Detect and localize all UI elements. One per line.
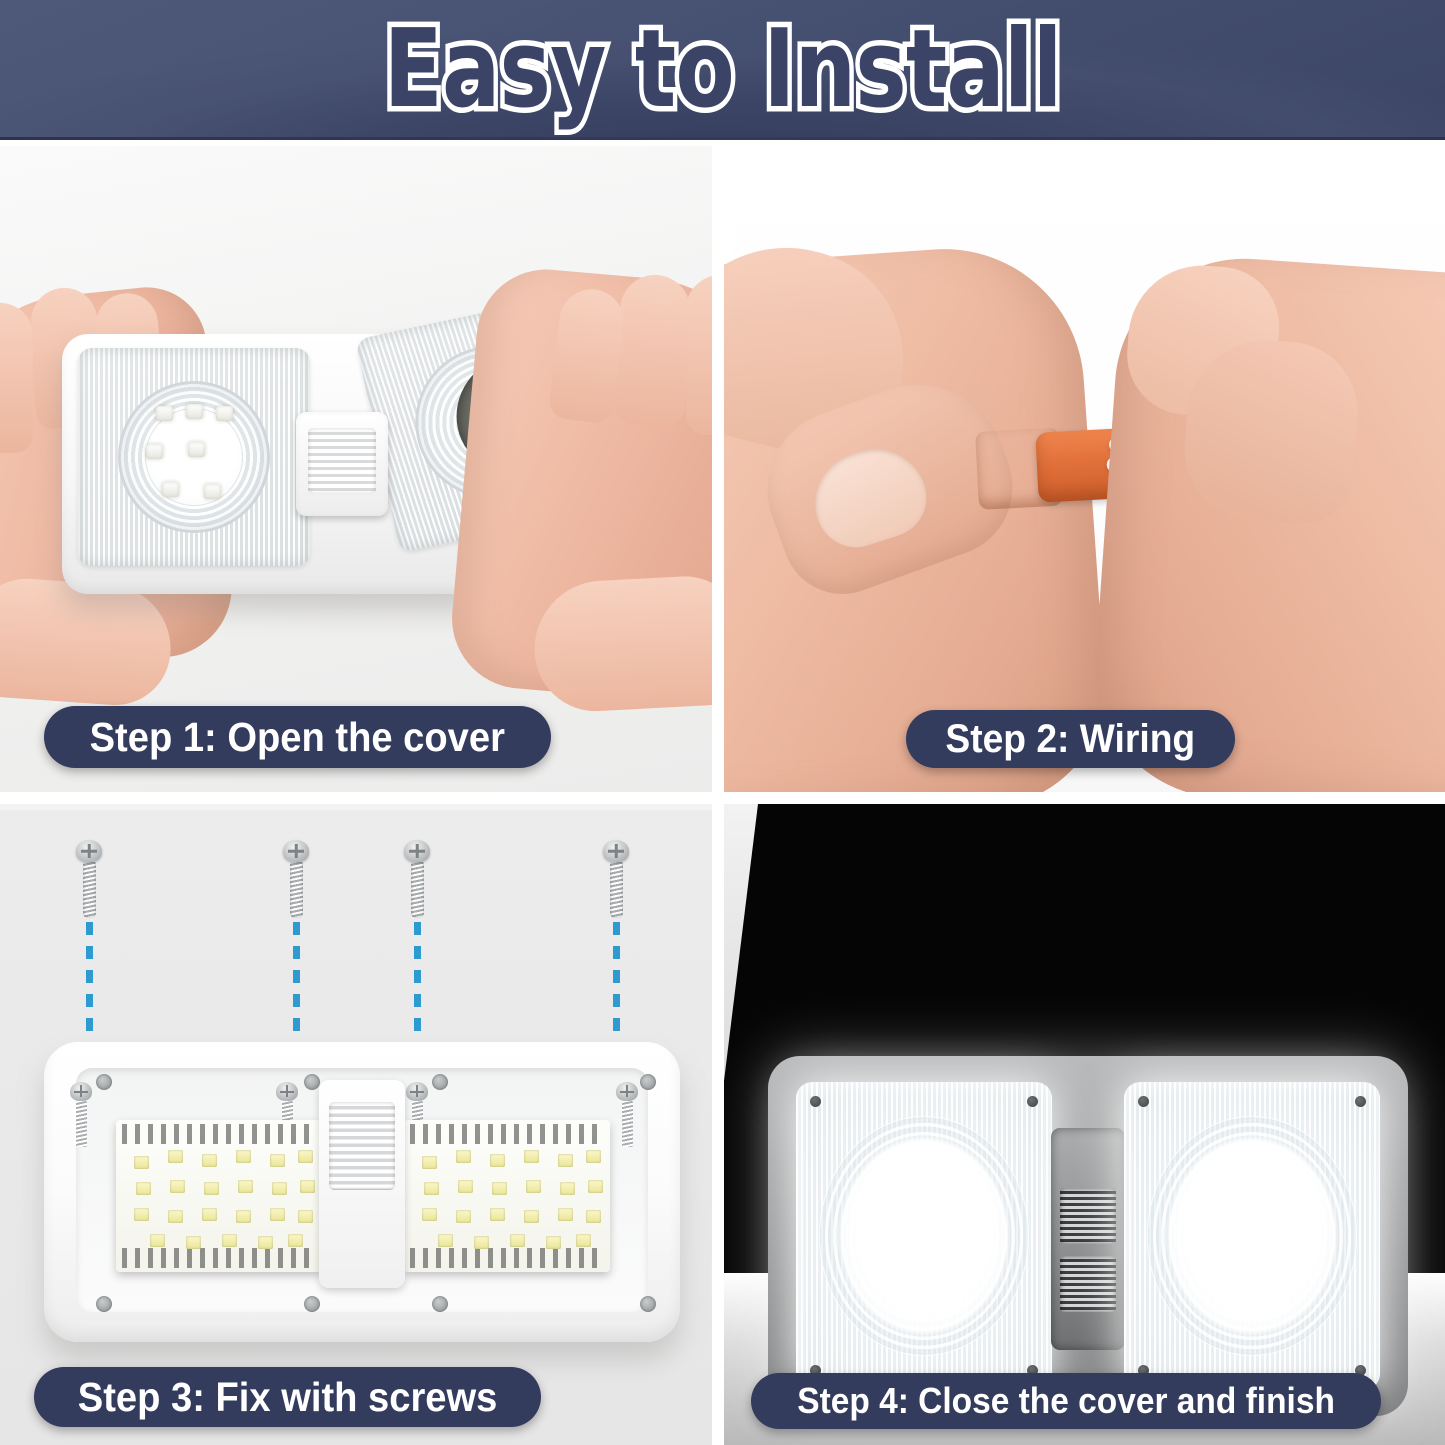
screw-icon (616, 1082, 638, 1147)
step-2-panel: Step 2: Wiring (724, 146, 1445, 792)
led-chip (298, 1210, 313, 1223)
led-chip (134, 1208, 149, 1221)
thumb (0, 575, 175, 709)
screw-icon (283, 840, 309, 918)
led-chip (186, 1236, 201, 1249)
screw-head (603, 840, 629, 862)
led-chip (146, 444, 163, 459)
step-1-label: Step 1: Open the cover (44, 706, 551, 768)
led-chip (270, 1208, 285, 1221)
mount-hole (432, 1074, 448, 1090)
led-chip (188, 442, 205, 457)
led-chip (526, 1180, 541, 1193)
pcb-component-row (410, 1124, 604, 1144)
led-chip (170, 1180, 185, 1193)
pcb-component-row (410, 1248, 604, 1268)
backdrop-edge (724, 804, 758, 1134)
led-chip (456, 1150, 471, 1163)
led-chip (524, 1210, 539, 1223)
led-chip (236, 1210, 251, 1223)
led-chip (204, 1182, 219, 1195)
led-chip (524, 1150, 539, 1163)
finger (0, 303, 33, 453)
screw-icon (603, 840, 629, 918)
step-4-label: Step 4: Close the cover and finish (751, 1373, 1381, 1429)
led-chip (202, 1208, 217, 1221)
header-bottom-rule (0, 137, 1445, 140)
led-chip (588, 1180, 603, 1193)
thumb (531, 573, 712, 714)
led-chip (546, 1236, 561, 1249)
screw-shaft (83, 862, 96, 918)
lens-corner-screw (1027, 1096, 1038, 1107)
led-chip (558, 1208, 573, 1221)
step-2-label-text: Step 2: Wiring (945, 717, 1195, 762)
fixture-base-open (44, 1042, 680, 1342)
center-switch[interactable] (1051, 1128, 1125, 1350)
mount-hole (96, 1074, 112, 1090)
lens-corner-screw (810, 1096, 821, 1107)
led-chip (272, 1182, 287, 1195)
led-chip (422, 1208, 437, 1221)
led-chip (424, 1182, 439, 1195)
lens-corner-screw (1138, 1096, 1149, 1107)
led-chip (156, 406, 173, 421)
lens-hotspot (840, 1138, 1008, 1334)
page-title: Easy to Install (384, 16, 1062, 124)
led-board-right (404, 1120, 610, 1272)
step-1-label-text: Step 1: Open the cover (90, 714, 505, 761)
led-chip (456, 1210, 471, 1223)
screw-shaft (622, 1101, 633, 1147)
lens-left-lit (796, 1082, 1052, 1390)
led-chip (288, 1234, 303, 1247)
screw-head (616, 1082, 638, 1101)
step-3-label: Step 3: Fix with screws (34, 1367, 541, 1427)
steps-grid: Step 1: Open the cover Step 2: (0, 146, 1445, 1445)
step-3-label-text: Step 3: Fix with screws (78, 1374, 498, 1421)
led-board-left (116, 1120, 322, 1272)
pcb-component-row (122, 1124, 316, 1144)
led-chip (458, 1180, 473, 1193)
led-chip (168, 1150, 183, 1163)
screw-icon (404, 840, 430, 918)
screw-icon (70, 1082, 92, 1147)
screw-shaft (76, 1101, 87, 1147)
led-chip (560, 1182, 575, 1195)
led-chip (222, 1234, 237, 1247)
led-chip (474, 1236, 489, 1249)
screw-head (283, 840, 309, 862)
step-3-panel: Step 3: Fix with screws (0, 804, 712, 1445)
led-chip (150, 1234, 165, 1247)
screw-icon (76, 840, 102, 918)
led-chip (270, 1154, 285, 1167)
led-chip (168, 1210, 183, 1223)
screw-shaft (290, 862, 303, 918)
switch-rocker[interactable] (308, 428, 376, 494)
led-chip (186, 404, 203, 419)
infographic-page: Easy to Install (0, 0, 1445, 1445)
led-chip (422, 1156, 437, 1169)
led-chip (162, 482, 179, 497)
center-switch[interactable] (319, 1080, 405, 1288)
led-chip (258, 1236, 273, 1249)
right-hand (446, 264, 712, 709)
switch-rocker-bottom[interactable] (1060, 1256, 1116, 1312)
led-chip (204, 484, 221, 499)
finger (614, 273, 692, 426)
center-switch[interactable] (296, 412, 388, 516)
led-chip (236, 1150, 251, 1163)
led-chip (298, 1150, 313, 1163)
screw-head (276, 1082, 298, 1101)
mount-hole (432, 1296, 448, 1312)
led-chip (576, 1234, 591, 1247)
screw-head (70, 1082, 92, 1101)
led-chip (586, 1150, 601, 1163)
led-chip (510, 1234, 525, 1247)
led-chip (238, 1180, 253, 1193)
step-2-label: Step 2: Wiring (906, 710, 1235, 768)
lens-right-lit (1124, 1082, 1380, 1390)
screw-head (404, 840, 430, 862)
header-title-wrap: Easy to Install (0, 0, 1445, 140)
lens-corner-screw (1355, 1096, 1366, 1107)
step-1-panel: Step 1: Open the cover (0, 146, 712, 792)
header-title-inner: Easy to Install (384, 16, 1062, 124)
screw-shaft (411, 862, 424, 918)
mount-hole (96, 1296, 112, 1312)
mount-hole (640, 1074, 656, 1090)
led-chip (202, 1154, 217, 1167)
step-4-label-text: Step 4: Close the cover and finish (797, 1380, 1335, 1422)
lens-hotspot (1168, 1138, 1336, 1334)
led-chip (216, 406, 233, 421)
switch-rocker-top[interactable] (1060, 1188, 1116, 1244)
finger (686, 275, 712, 435)
led-chip (586, 1210, 601, 1223)
led-chip (134, 1156, 149, 1169)
panel-top-edge (0, 804, 712, 810)
led-chip (492, 1182, 507, 1195)
screw-head (76, 840, 102, 862)
screw-head (406, 1082, 428, 1101)
step-4-panel: Step 4: Close the cover and finish (724, 804, 1445, 1445)
mount-hole (304, 1074, 320, 1090)
led-chip (558, 1154, 573, 1167)
light-fixture-installed (768, 1056, 1408, 1416)
pcb-component-row (122, 1248, 316, 1268)
led-chip (300, 1180, 315, 1193)
mount-hole (304, 1296, 320, 1312)
led-chip (490, 1208, 505, 1221)
lens-left (78, 348, 310, 566)
screw-shaft (610, 862, 623, 918)
led-chip (136, 1182, 151, 1195)
switch-rocker[interactable] (329, 1102, 395, 1190)
header-banner: Easy to Install (0, 0, 1445, 140)
led-chip (438, 1234, 453, 1247)
led-chip (490, 1154, 505, 1167)
mount-hole (640, 1296, 656, 1312)
